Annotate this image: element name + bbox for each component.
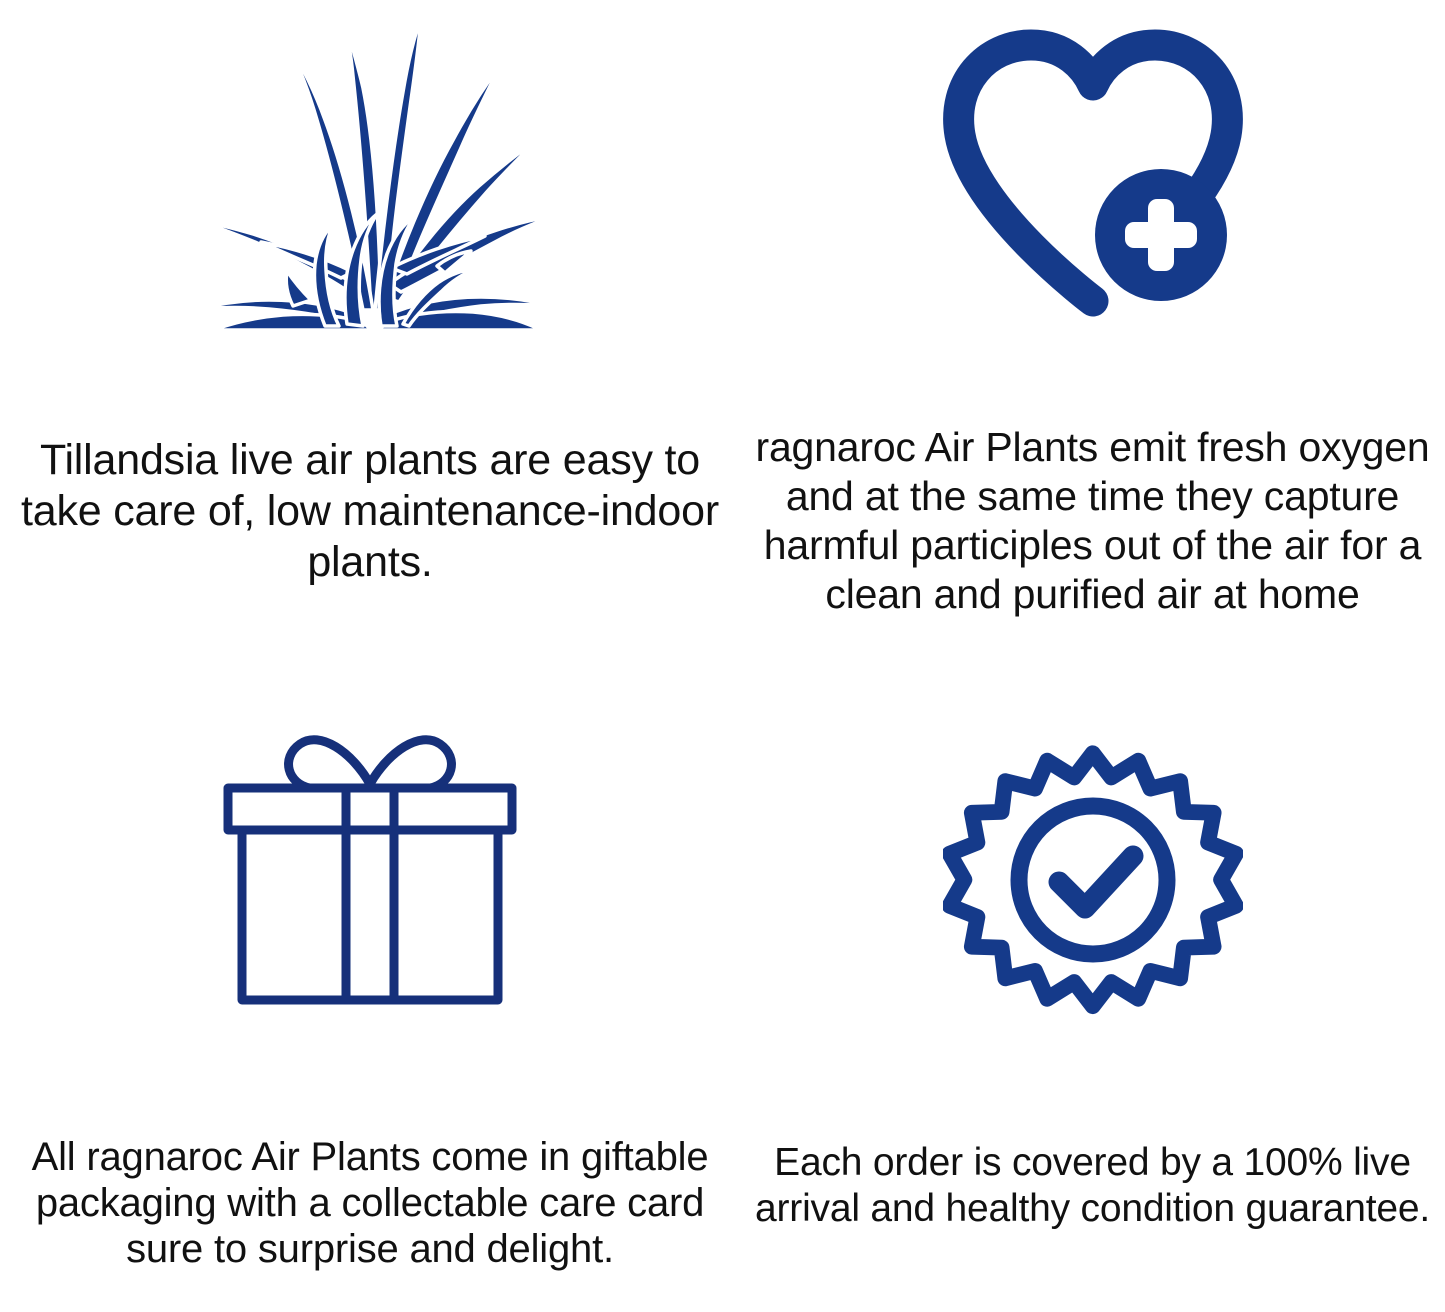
guarantee-badge-icon-wrap (740, 660, 1445, 1030)
heart-plus-icon-wrap (740, 0, 1445, 323)
starburst-outline (949, 753, 1235, 1006)
feature-caption: Tillandsia live air plants are easy to t… (3, 435, 738, 588)
heart-plus-icon (933, 23, 1253, 323)
feature-caption: ragnaroc Air Plants emit fresh oxygen an… (743, 423, 1443, 619)
feature-block-air-plant: Tillandsia live air plants are easy to t… (0, 0, 740, 660)
check-circle (1019, 806, 1167, 954)
gift-box-icon (210, 722, 530, 1022)
feature-caption: Each order is covered by a 100% live arr… (743, 1140, 1443, 1232)
feature-caption: All ragnaroc Air Plants come in giftable… (10, 1134, 730, 1272)
feature-grid: Tillandsia live air plants are easy to t… (0, 0, 1445, 1312)
gift-box-icon-wrap (0, 660, 740, 1022)
feature-block-gift-packaging: All ragnaroc Air Plants come in giftable… (0, 660, 740, 1312)
guarantee-badge-icon (943, 730, 1243, 1030)
check-mark-icon (1059, 856, 1133, 908)
feature-block-air-purification: ragnaroc Air Plants emit fresh oxygen an… (740, 0, 1445, 660)
air-plant-icon-wrap (0, 0, 740, 330)
feature-block-guarantee: Each order is covered by a 100% live arr… (740, 660, 1445, 1312)
air-plant-icon (175, 10, 565, 330)
